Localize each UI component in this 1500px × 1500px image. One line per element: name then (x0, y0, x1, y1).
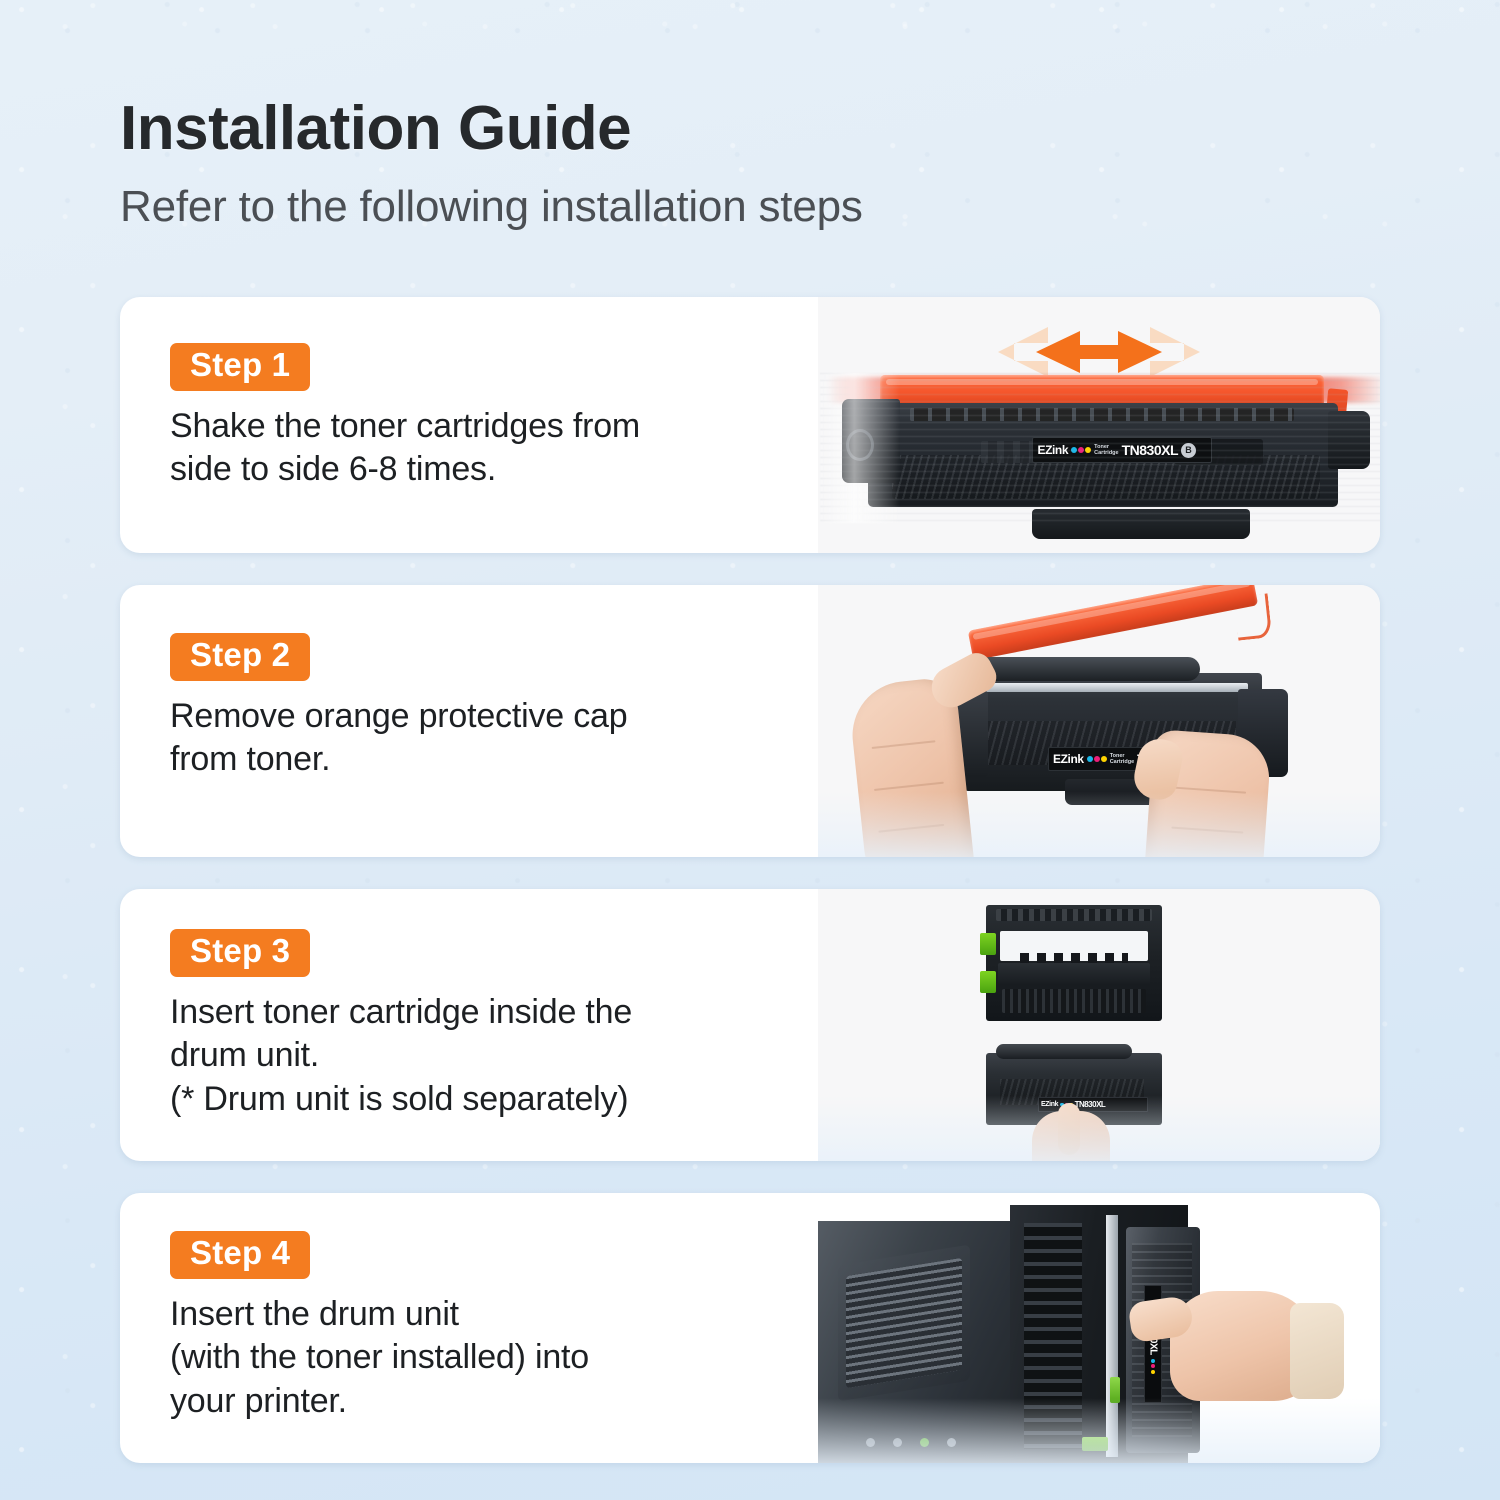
step-2-description: Remove orange protective cap from toner. (170, 695, 818, 782)
brand-text: EZink (1041, 1101, 1058, 1108)
step-4-badge: Step 4 (170, 1231, 310, 1279)
printer-body (818, 1221, 1016, 1463)
step-3-description: Insert toner cartridge inside the drum u… (170, 991, 818, 1122)
cmyk-dots-icon (1151, 1359, 1155, 1374)
green-tab-lower (1082, 1437, 1108, 1451)
cartridge-label: EZink TN830XL (1038, 1097, 1148, 1112)
brand-text: EZink (1053, 752, 1084, 766)
label-subtitle: Toner Cartridge (1110, 753, 1134, 766)
page-subtitle: Refer to the following installation step… (120, 183, 863, 231)
step-1-text-panel: Step 1 Shake the toner cartridges from s… (120, 297, 818, 553)
label-subtitle: Toner Cartridge (1094, 444, 1118, 457)
step-card-3: Step 3 Insert toner cartridge inside the… (120, 889, 1380, 1161)
step-2-image: EZink Toner Cartridge TN830XL (818, 585, 1380, 857)
printer-indicator-lights (866, 1438, 956, 1447)
step-4-text-panel: Step 4 Insert the drum unit (with the to… (120, 1193, 818, 1463)
cmyk-dots-icon (1087, 756, 1107, 762)
page-header: Installation Guide Refer to the followin… (120, 96, 863, 231)
step-4-description: Insert the drum unit (with the toner ins… (170, 1293, 818, 1424)
step-card-4: Step 4 Insert the drum unit (with the to… (120, 1193, 1380, 1463)
step-3-badge: Step 3 (170, 929, 310, 977)
cmyk-dots-icon (1071, 447, 1091, 453)
step-4-image: TN830XL (818, 1193, 1380, 1463)
green-tab-side (1110, 1377, 1120, 1403)
drum-unit-graphic (986, 905, 1162, 1021)
step-2-text-panel: Step 2 Remove orange protective cap from… (120, 585, 818, 857)
toner-cartridge-graphic: EZink Toner Cartridge TN830XL B (846, 373, 1364, 523)
green-tab-upper (980, 933, 996, 955)
orange-protective-cap (968, 585, 1258, 660)
cartridge-label: EZink Toner Cartridge TN830XL B (1032, 437, 1212, 463)
step-card-1: Step 1 Shake the toner cartridges from s… (120, 297, 1380, 553)
color-badge: B (1181, 443, 1196, 458)
thumb (1058, 1103, 1080, 1155)
step-1-badge: Step 1 (170, 343, 310, 391)
model-number: TN830XL (1075, 1100, 1106, 1109)
step-3-text-panel: Step 3 Insert toner cartridge inside the… (120, 889, 818, 1161)
steps-list: Step 1 Shake the toner cartridges from s… (120, 297, 1380, 1463)
brand-text: EZink (1037, 443, 1068, 457)
page-title: Installation Guide (120, 96, 863, 161)
model-number: TN830XL (1122, 442, 1178, 458)
step-2-badge: Step 2 (170, 633, 310, 681)
sleeve (1290, 1303, 1344, 1399)
step-1-image: EZink Toner Cartridge TN830XL B (818, 297, 1380, 553)
green-tab-lower (980, 971, 996, 993)
step-card-2: Step 2 Remove orange protective cap from… (120, 585, 1380, 857)
step-1-description: Shake the toner cartridges from side to … (170, 405, 818, 492)
step-3-image: EZink TN830XL (818, 889, 1380, 1161)
